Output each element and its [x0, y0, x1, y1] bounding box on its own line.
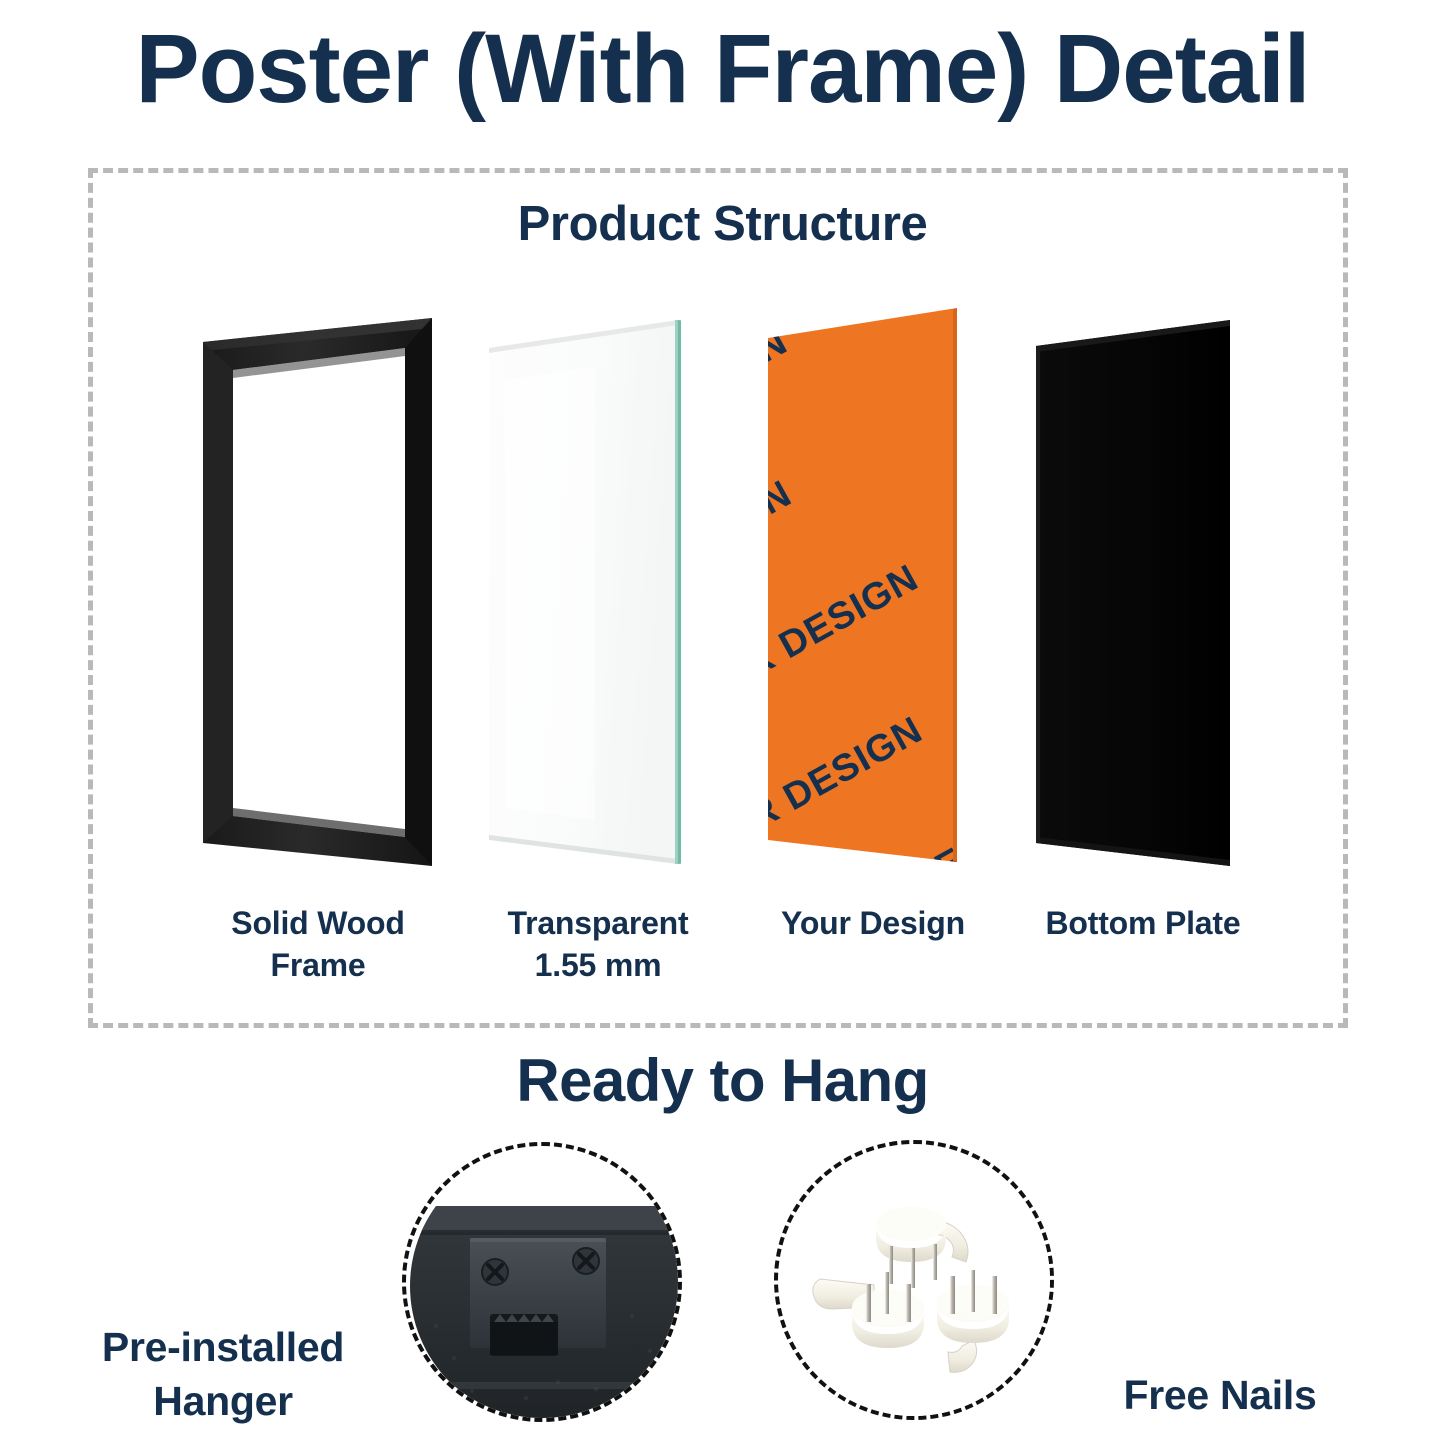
label-line-1: Free Nails: [1055, 1368, 1385, 1422]
pre-installed-hanger-photo: [402, 1142, 682, 1422]
free-nails-photo: [774, 1140, 1054, 1420]
caption-line-1: Transparent: [453, 902, 743, 944]
your-design-illustration: YOUR DESIGN YOUR DESIGN YOUR DESIGN YOUR…: [750, 300, 995, 880]
ready-to-hang-heading: Ready to Hang: [0, 1046, 1445, 1115]
label-line-2: Hanger: [48, 1374, 398, 1428]
layer-caption-transparent-sheet: Transparent 1.55 mm: [453, 902, 743, 986]
layer-your-design: YOUR DESIGN YOUR DESIGN YOUR DESIGN YOUR…: [750, 300, 995, 900]
layer-caption-your-design: Your Design: [728, 902, 1018, 944]
caption-line-1: Bottom Plate: [998, 902, 1288, 944]
caption-line-1: Solid Wood: [173, 902, 463, 944]
layer-row: Solid Wood Frame: [120, 300, 1320, 1000]
layer-solid-wood-frame: Solid Wood Frame: [195, 300, 440, 900]
layer-bottom-plate: Bottom Plate: [1020, 300, 1265, 900]
layer-transparent-sheet: Transparent 1.55 mm: [475, 300, 720, 900]
caption-line-2: 1.55 mm: [453, 944, 743, 986]
solid-wood-frame-illustration: [195, 300, 440, 880]
layer-caption-bottom-plate: Bottom Plate: [998, 902, 1288, 944]
free-nails-label: Free Nails: [1055, 1368, 1385, 1422]
infographic-page: Poster (With Frame) Detail Product Struc…: [0, 0, 1445, 1445]
label-line-1: Pre-installed: [48, 1320, 398, 1374]
caption-line-1: Your Design: [728, 902, 1018, 944]
page-title: Poster (With Frame) Detail: [7, 18, 1438, 120]
product-structure-heading: Product Structure: [0, 196, 1445, 252]
caption-line-2: Frame: [173, 944, 463, 986]
bottom-plate-illustration: [1020, 300, 1265, 880]
transparent-sheet-illustration: [475, 300, 720, 880]
layer-caption-solid-wood-frame: Solid Wood Frame: [173, 902, 463, 986]
pre-installed-hanger-label: Pre-installed Hanger: [48, 1320, 398, 1428]
